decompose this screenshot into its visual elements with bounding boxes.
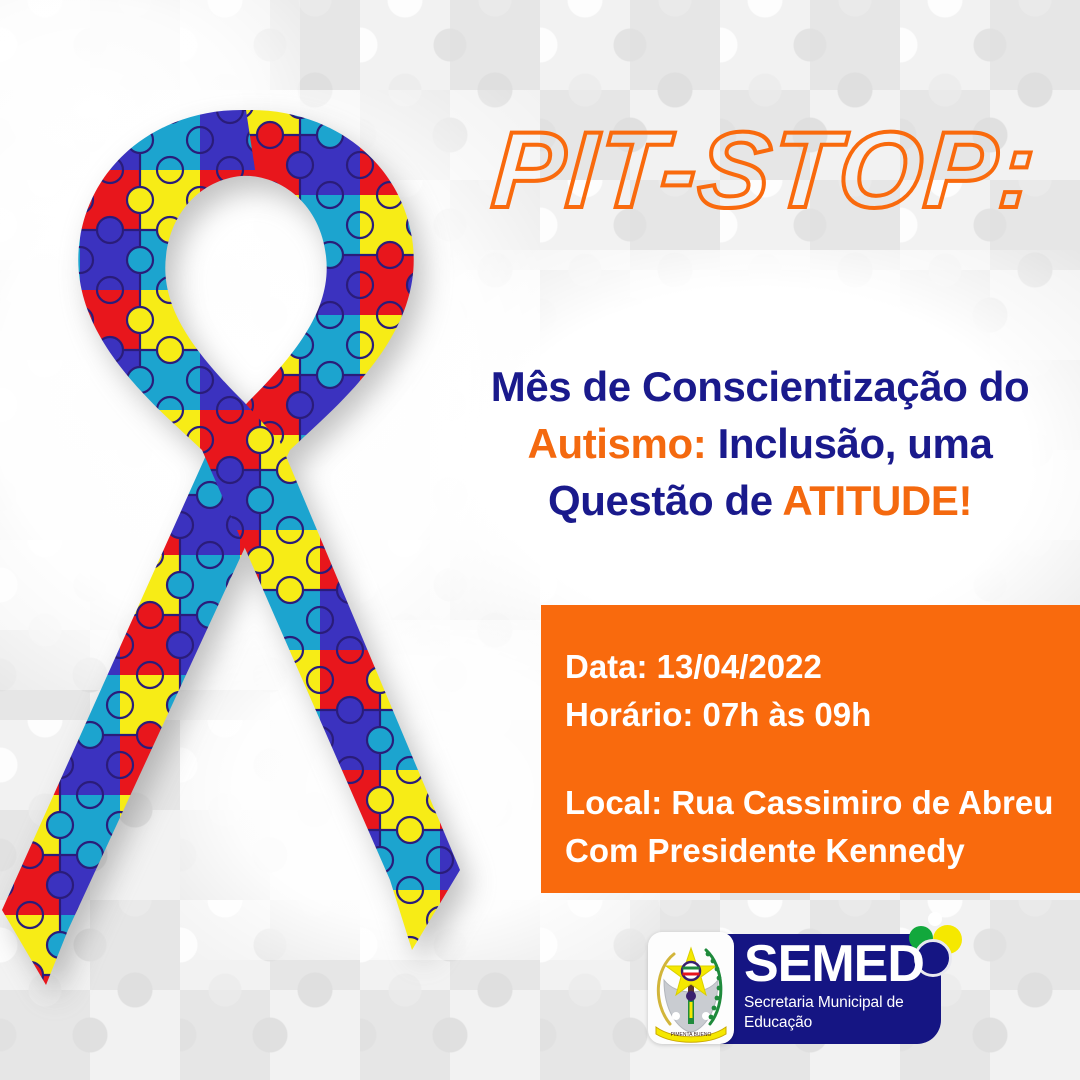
event-details-panel: Data: 13/04/2022 Horário: 07h às 09h Loc… bbox=[541, 605, 1080, 893]
poster-canvas: PIT-STOP: Mês de Conscientização do Auti… bbox=[0, 0, 1080, 1080]
event-location-line2: Com Presidente Kennedy bbox=[565, 827, 1080, 875]
headline-line-3: Questão de ATITUDE! bbox=[450, 472, 1070, 529]
headline-line1-text: Mês de Conscientização do bbox=[491, 363, 1029, 410]
headline-line3-text: Questão de bbox=[548, 477, 782, 524]
headline: Mês de Conscientização do Autismo: Inclu… bbox=[450, 358, 1070, 529]
semed-logo: PIMENTA BUENO SEMED Secretaria Municipal… bbox=[648, 920, 958, 1055]
headline-line-1: Mês de Conscientização do bbox=[450, 358, 1070, 415]
logo-text-group: SEMED Secretaria Municipal de Educação bbox=[744, 938, 959, 1033]
event-location-line1: Local: Rua Cassimiro de Abreu bbox=[565, 779, 1080, 827]
headline-line3-accent: ATITUDE! bbox=[782, 477, 972, 524]
event-date: Data: 13/04/2022 bbox=[565, 643, 1080, 691]
event-time: Horário: 07h às 09h bbox=[565, 691, 1080, 739]
headline-line-2: Autismo: Inclusão, uma bbox=[450, 415, 1070, 472]
logo-acronym: SEMED bbox=[744, 938, 959, 990]
page-title: PIT-STOP: bbox=[470, 95, 1070, 245]
headline-line2-accent: Autismo: bbox=[528, 420, 707, 467]
svg-text:PIMENTA BUENO: PIMENTA BUENO bbox=[671, 1032, 712, 1038]
svg-text:PIT-STOP:: PIT-STOP: bbox=[489, 109, 1042, 230]
info-spacer bbox=[565, 739, 1080, 779]
municipal-crest-icon: PIMENTA BUENO bbox=[648, 932, 734, 1044]
logo-subtitle: Secretaria Municipal de Educação bbox=[744, 993, 959, 1033]
white-dot-icon bbox=[928, 912, 942, 926]
headline-line2-rest: Inclusão, uma bbox=[706, 420, 992, 467]
